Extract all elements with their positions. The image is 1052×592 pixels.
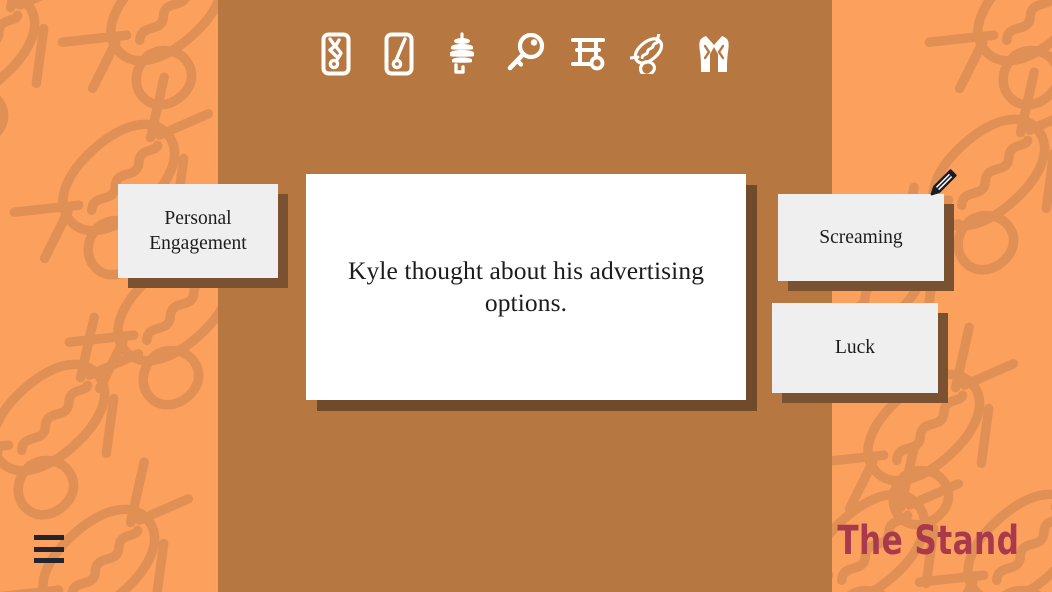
game-logo: The Stand [837, 518, 1019, 564]
vest-icon[interactable] [691, 27, 737, 81]
game-screen: Kyle thought about his advertising optio… [0, 0, 1052, 592]
key-icon[interactable] [502, 27, 548, 81]
menu-bar-bottom [34, 558, 64, 563]
story-card-container: Kyle thought about his advertising optio… [306, 174, 746, 400]
inventory-icon-bar [218, 24, 832, 84]
hamburger-menu-icon[interactable] [34, 535, 64, 563]
choice-label: Screaming [819, 225, 902, 250]
cart-icon[interactable] [565, 27, 611, 81]
choice-card-screaming-container: Screaming [778, 194, 944, 281]
menu-bar-top [34, 535, 64, 540]
edit-pencil-icon[interactable] [920, 164, 962, 206]
choice-card-personal-engagement[interactable]: Personal Engagement [118, 184, 278, 278]
beehive-icon[interactable] [439, 27, 485, 81]
choice-label: Personal Engagement [132, 206, 264, 257]
peanut-icon[interactable] [628, 27, 674, 81]
story-text: Kyle thought about his advertising optio… [334, 255, 718, 320]
choice-card-screaming[interactable]: Screaming [778, 194, 944, 281]
menu-bar-middle [34, 547, 64, 552]
choice-card-luck-container: Luck [772, 303, 938, 393]
cracked-phone-icon[interactable] [313, 27, 359, 81]
choice-card-luck[interactable]: Luck [772, 303, 938, 393]
story-card[interactable]: Kyle thought about his advertising optio… [306, 174, 746, 400]
choice-card-personal-engagement-container: Personal Engagement [118, 184, 278, 278]
choice-label: Luck [835, 335, 875, 360]
phone-icon[interactable] [376, 27, 422, 81]
